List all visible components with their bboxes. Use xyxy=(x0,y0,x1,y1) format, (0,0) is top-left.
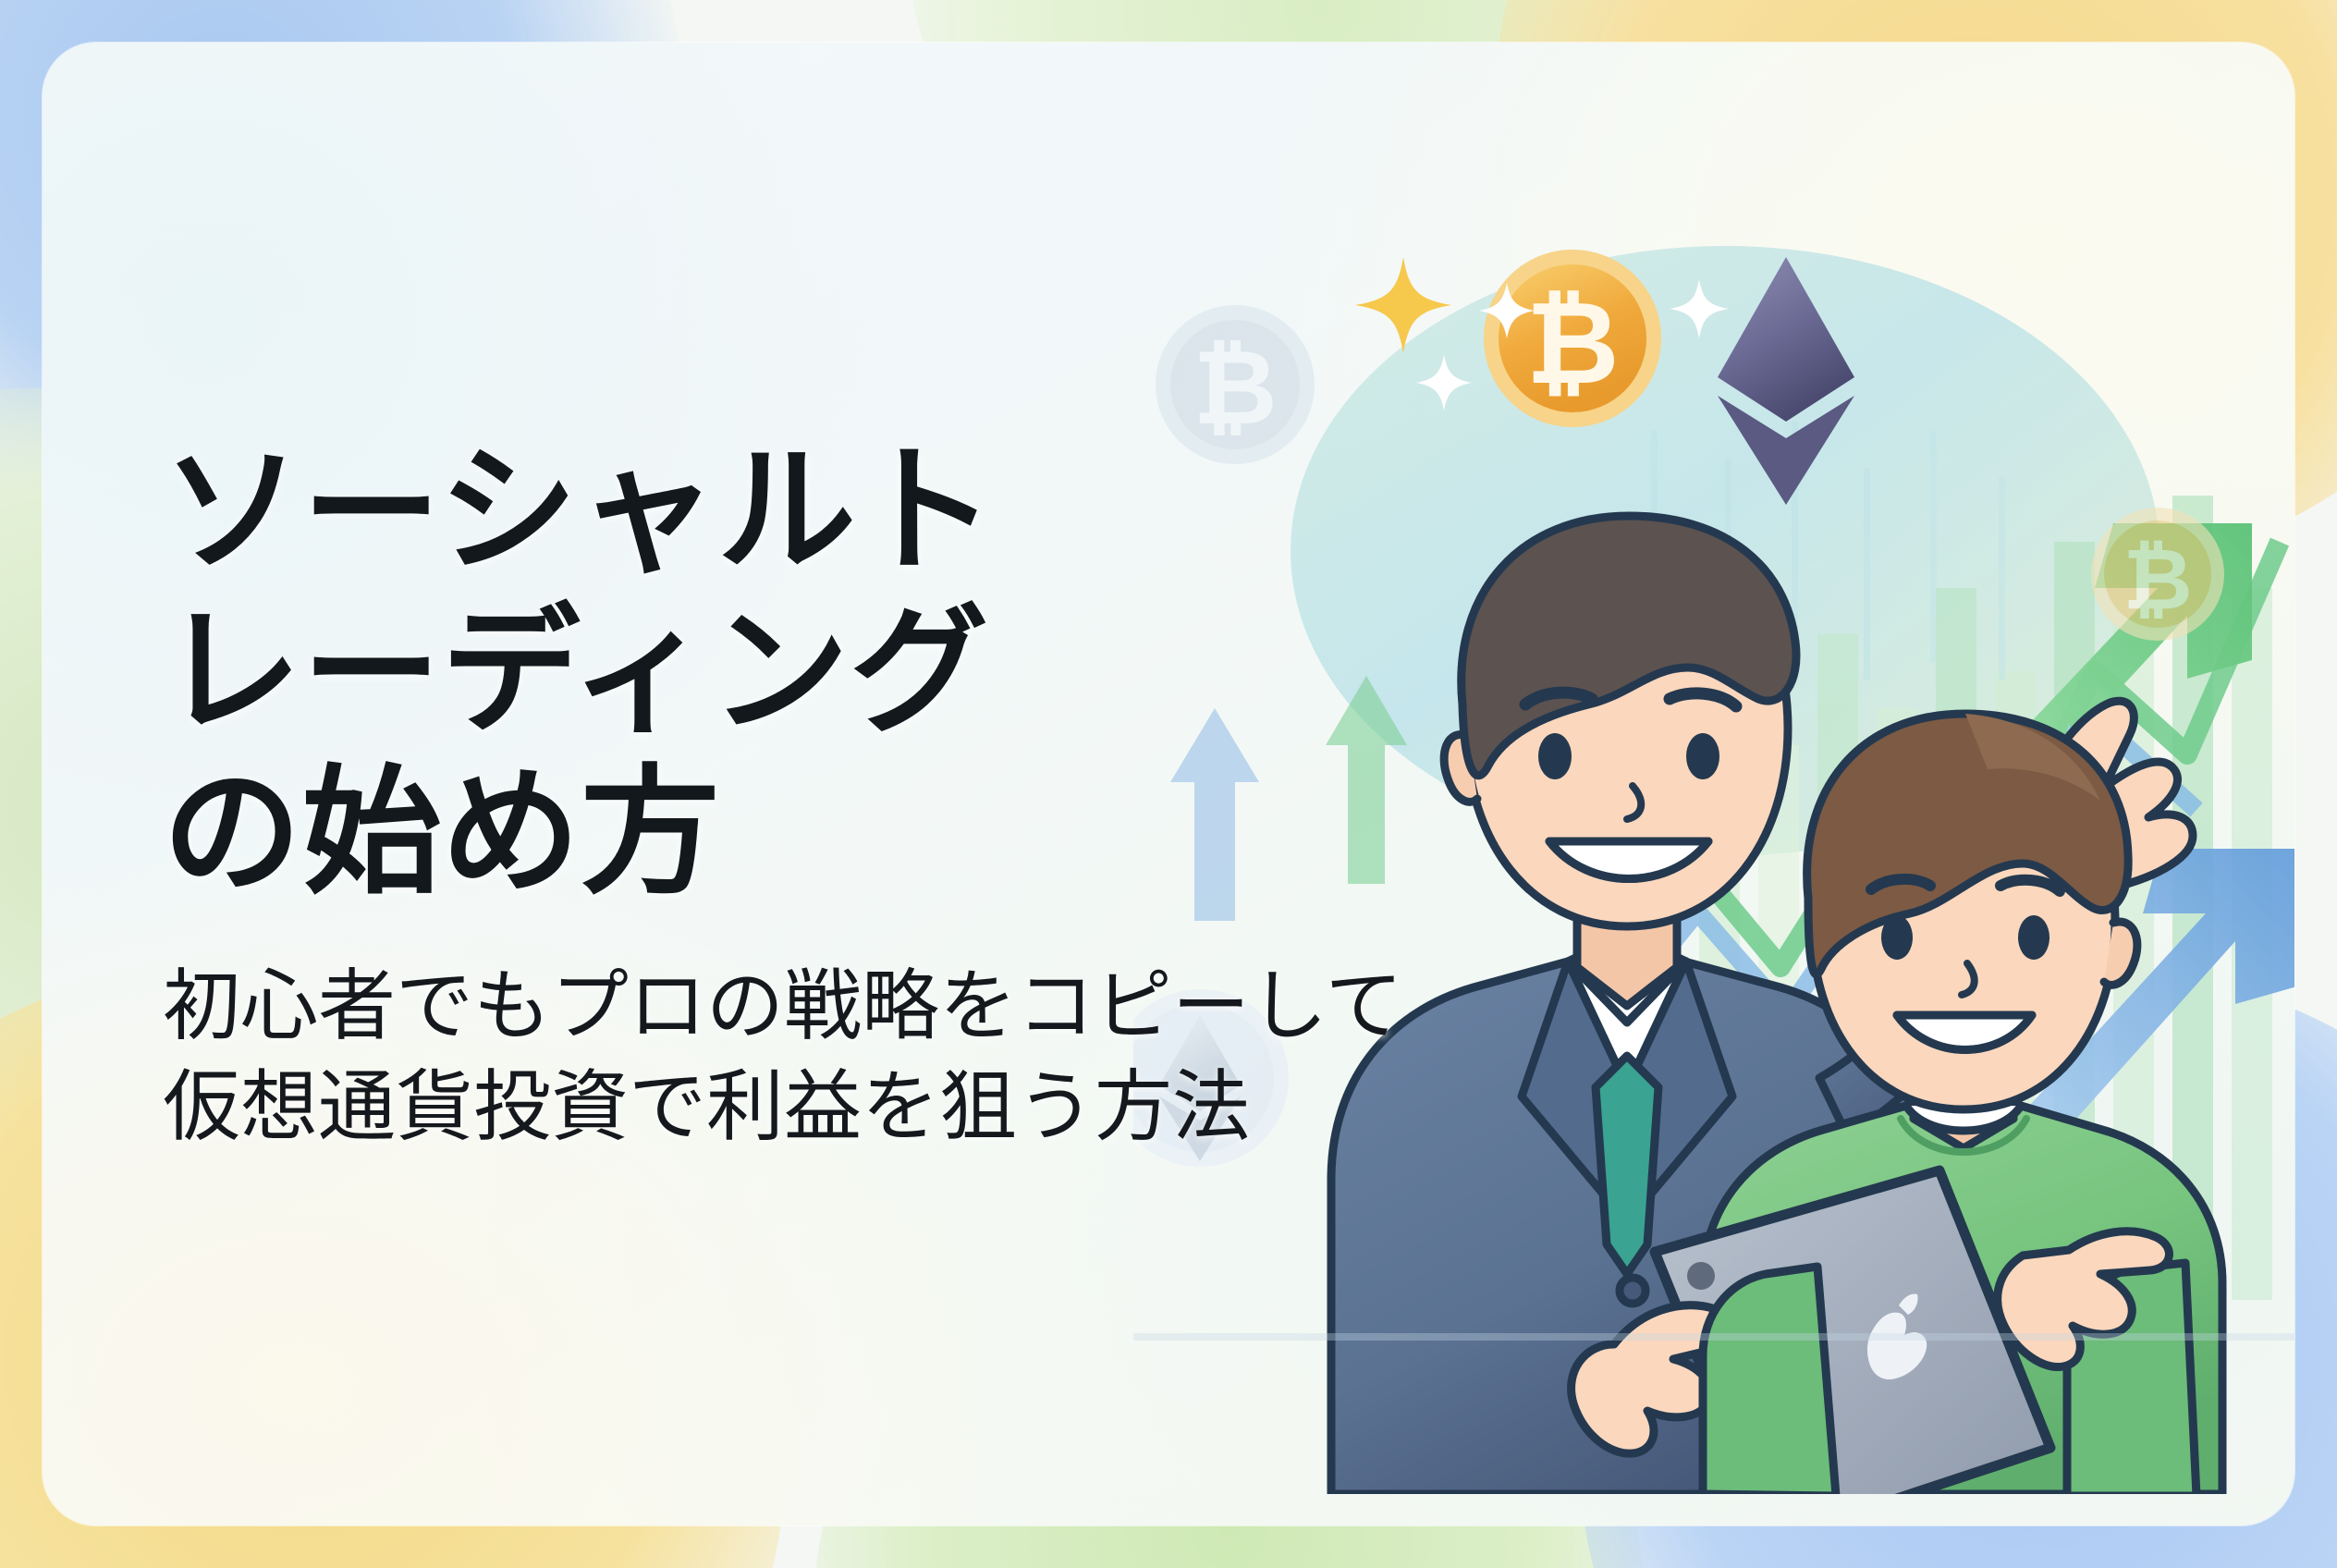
title-line-2: レーディング xyxy=(163,592,1198,753)
subtitle-line-2: 仮想通貨投資で利益を狙う方法 xyxy=(163,1057,1198,1158)
page-title: ソーシャルト レーディング の始め方 xyxy=(163,431,1198,913)
chart-baseline xyxy=(1133,1333,2294,1341)
title-line-1: ソーシャルト xyxy=(163,431,1198,592)
hero-illustration: ₿ ₿ ₿ xyxy=(1133,153,2294,1494)
bitcoin-coin-faded-right-icon: ₿ xyxy=(2091,508,2224,641)
page-subtitle: 初心者でもプロの戦略をコピーして 仮想通貨投資で利益を狙う方法 xyxy=(163,956,1198,1158)
text-block: ソーシャルト レーディング の始め方 初心者でもプロの戦略をコピーして 仮想通貨… xyxy=(163,431,1198,1158)
title-line-3: の始め方 xyxy=(163,753,1198,913)
thumbnail-canvas: ₿ ₿ ₿ xyxy=(0,0,2337,1568)
svg-text:₿: ₿ xyxy=(1193,328,1277,448)
content-card: ₿ ₿ ₿ xyxy=(43,43,2294,1525)
subtitle-line-1: 初心者でもプロの戦略をコピーして xyxy=(163,956,1198,1057)
bitcoin-coin-gold-icon: ₿ xyxy=(1484,250,1661,427)
svg-text:₿: ₿ xyxy=(1525,277,1619,410)
svg-text:₿: ₿ xyxy=(2123,530,2193,629)
